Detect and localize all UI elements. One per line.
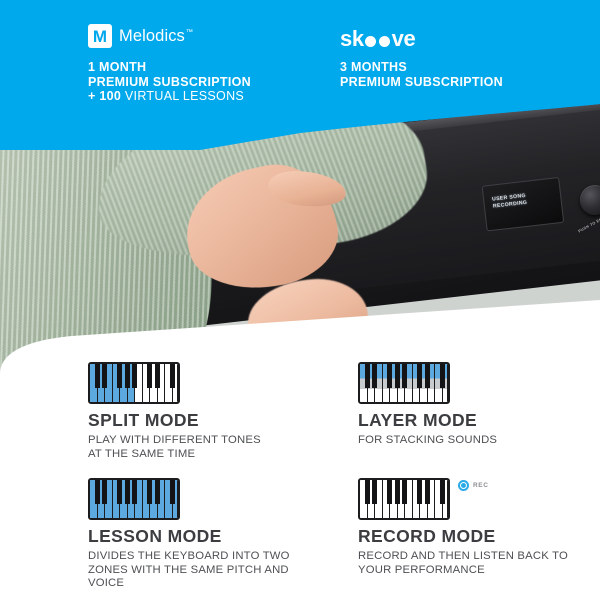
feature-record-desc: RECORD AND THEN LISTEN BACK TO YOUR PERF…	[358, 550, 568, 577]
feature-layer-mode: LAYER MODE FOR STACKING SOUNDS	[358, 362, 497, 448]
melodics-offer-line2: PREMIUM SUBSCRIPTION	[88, 75, 251, 90]
melodics-offer-lessons: VIRTUAL LESSONS	[121, 89, 244, 103]
keyboard-lesson-icon	[88, 478, 180, 520]
feature-split-mode: SPLIT MODE PLAY WITH DIFFERENT TONES AT …	[88, 362, 261, 461]
skoove-logo: sk ve	[340, 26, 415, 52]
feature-lesson-title: LESSON MODE	[88, 526, 290, 547]
rec-indicator-icon	[458, 480, 469, 491]
skoove-name-part1: sk	[340, 26, 364, 52]
melodics-name: Melodics	[119, 27, 185, 45]
keyboard-split-icon	[88, 362, 180, 404]
melodics-mark-icon: M	[88, 24, 112, 48]
feature-layer-desc: FOR STACKING SOUNDS	[358, 434, 497, 448]
feature-record-title: RECORD MODE	[358, 526, 568, 547]
skoove-offer-line1: 3 MONTHS	[340, 60, 503, 75]
feature-split-title: SPLIT MODE	[88, 410, 261, 431]
melodics-offer-line1: 1 MONTH	[88, 60, 251, 75]
skoove-dot-left-icon	[365, 36, 376, 47]
keyboard-layer-icon	[358, 362, 450, 404]
keyboard-record-icon	[358, 478, 450, 520]
rec-badge: REC	[458, 480, 489, 491]
melodics-logo: M Melodics™	[88, 24, 193, 48]
skoove-offer: 3 MONTHS PREMIUM SUBSCRIPTION	[340, 60, 503, 89]
melodics-offer: 1 MONTH PREMIUM SUBSCRIPTION + 100 VIRTU…	[88, 60, 251, 104]
skoove-name-part2: ve	[392, 26, 416, 52]
feature-split-desc: PLAY WITH DIFFERENT TONES AT THE SAME TI…	[88, 434, 261, 461]
melodics-offer-count: + 100	[88, 89, 121, 103]
skoove-offer-line2: PREMIUM SUBSCRIPTION	[340, 75, 503, 90]
feature-lesson-mode: LESSON MODE DIVIDES THE KEYBOARD INTO TW…	[88, 478, 290, 591]
trademark-icon: ™	[186, 29, 193, 36]
feature-list: SPLIT MODE PLAY WITH DIFFERENT TONES AT …	[0, 300, 600, 600]
feature-record-mode: REC RECORD MODE RECORD AND THEN LISTEN B…	[358, 478, 568, 577]
melodics-wordmark: Melodics™	[119, 27, 193, 46]
feature-layer-title: LAYER MODE	[358, 410, 497, 431]
melodics-offer-line3: + 100 VIRTUAL LESSONS	[88, 89, 251, 104]
promo-graphic: DEMO METRONOME RECORD START/STOP SETTING…	[0, 0, 600, 600]
feature-lesson-desc: DIVIDES THE KEYBOARD INTO TWO ZONES WITH…	[88, 550, 290, 591]
skoove-dot-right-icon	[379, 36, 390, 47]
rec-badge-label: REC	[473, 482, 489, 489]
